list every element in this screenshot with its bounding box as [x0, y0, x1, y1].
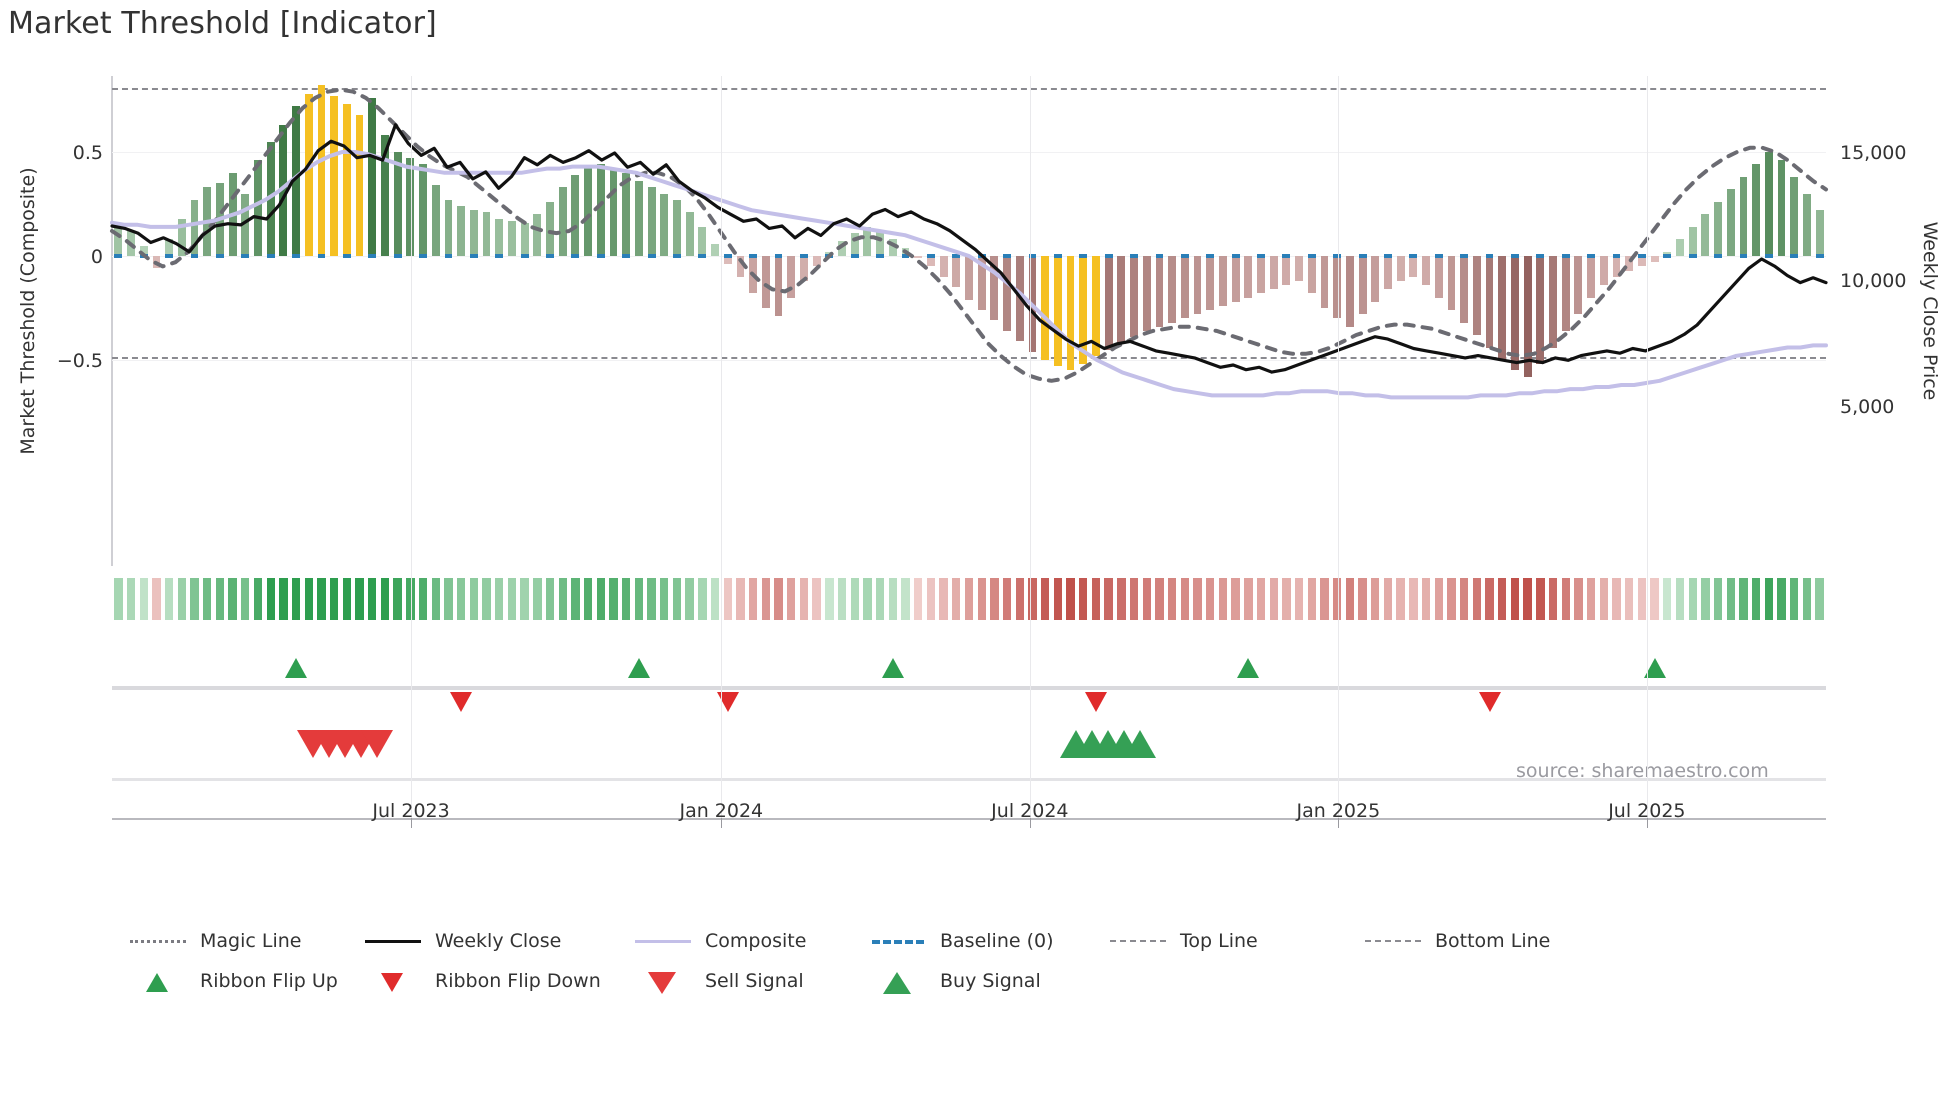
ribbon-cell — [1714, 578, 1722, 620]
legend-item[interactable]: Sell Signal — [635, 970, 804, 992]
ribbon-cell — [762, 578, 770, 620]
ribbon-cell — [1181, 578, 1189, 620]
ribbon-cell — [1663, 578, 1671, 620]
triangle-down-icon — [381, 973, 403, 992]
ribbon-cell — [216, 578, 224, 620]
ribbon-flip-up-marker[interactable] — [628, 658, 650, 678]
ribbon-cell — [609, 578, 617, 620]
ribbon-cell — [1409, 578, 1417, 620]
ribbon-flip-up-marker[interactable] — [882, 658, 904, 678]
ribbon-flip-down-marker[interactable] — [1479, 692, 1501, 712]
ribbon-cell — [1193, 578, 1201, 620]
ribbon-cell — [1244, 578, 1252, 620]
legend-item[interactable]: Weekly Close — [365, 930, 561, 952]
ribbon-cell — [685, 578, 693, 620]
ribbon-cell — [482, 578, 490, 620]
y-tick-right-2: 5,000 — [1840, 396, 1960, 418]
ribbon-cell — [140, 578, 148, 620]
weekly-close-line — [112, 125, 1826, 372]
ribbon-cell — [1282, 578, 1290, 620]
x-tick-label: Jul 2025 — [1547, 800, 1747, 822]
ribbon-cell — [559, 578, 567, 620]
ribbon-cell — [381, 578, 389, 620]
ribbon-cell — [724, 578, 732, 620]
ribbon-cell — [914, 578, 922, 620]
ribbon-cell — [343, 578, 351, 620]
legend-swatch — [1365, 932, 1421, 950]
ribbon-cell — [1574, 578, 1582, 620]
page-title: Market Threshold [Indicator] — [8, 6, 437, 41]
ribbon-cell — [520, 578, 528, 620]
ribbon-cell — [267, 578, 275, 620]
ribbon-cell — [393, 578, 401, 620]
ribbon-cell — [1447, 578, 1455, 620]
x-tick-label: Jul 2023 — [311, 800, 511, 822]
ribbon-cell — [1689, 578, 1697, 620]
legend-label: Top Line — [1180, 930, 1258, 952]
ribbon-cell — [1676, 578, 1684, 620]
ribbon-cell — [838, 578, 846, 620]
ribbon-cell — [952, 578, 960, 620]
ribbon-cell — [825, 578, 833, 620]
ribbon-cell — [254, 578, 262, 620]
legend-item[interactable]: Composite — [635, 930, 806, 952]
legend-item[interactable]: Top Line — [1110, 930, 1258, 952]
ribbon-cell — [1549, 578, 1557, 620]
ribbon-cell — [990, 578, 998, 620]
signal-markers — [112, 634, 1826, 744]
legend-swatch — [1110, 932, 1166, 950]
ribbon-cell — [698, 578, 706, 620]
ribbon-cell — [1346, 578, 1354, 620]
ribbon-cell — [1104, 578, 1112, 620]
ribbon-cell — [622, 578, 630, 620]
ribbon-cell — [1790, 578, 1798, 620]
legend-item[interactable]: Baseline (0) — [870, 930, 1054, 952]
ribbon-cell — [1511, 578, 1519, 620]
legend-item[interactable]: Buy Signal — [870, 970, 1041, 992]
ribbon-cell — [711, 578, 719, 620]
legend-label: Ribbon Flip Down — [435, 970, 601, 992]
ribbon-cell — [533, 578, 541, 620]
ribbon-cell — [1650, 578, 1658, 620]
ribbon-cell — [978, 578, 986, 620]
ribbon-flip-down-marker[interactable] — [1085, 692, 1107, 712]
ribbon-cell — [1130, 578, 1138, 620]
ribbon-cell — [457, 578, 465, 620]
legend-swatch — [130, 972, 186, 990]
ribbon-cell — [863, 578, 871, 620]
ribbon-cell — [1054, 578, 1062, 620]
dashed-line-icon — [1110, 940, 1166, 942]
ribbon-cell — [1473, 578, 1481, 620]
ribbon-cell — [673, 578, 681, 620]
ribbon-cell — [1739, 578, 1747, 620]
legend-label: Weekly Close — [435, 930, 561, 952]
ribbon-cell — [190, 578, 198, 620]
legend-swatch — [635, 932, 691, 950]
legend-row-1: Magic LineWeekly CloseCompositeBaseline … — [110, 930, 1910, 970]
legend-label: Composite — [705, 930, 806, 952]
ribbon-cell — [1155, 578, 1163, 620]
ribbon-cell — [1003, 578, 1011, 620]
ribbon-cell — [876, 578, 884, 620]
ribbon-cell — [292, 578, 300, 620]
ribbon-cell — [1485, 578, 1493, 620]
ribbon-cell — [1435, 578, 1443, 620]
x-tick-label: Jan 2024 — [621, 800, 821, 822]
legend-label: Baseline (0) — [940, 930, 1054, 952]
y-tick-left-1: 0 — [0, 246, 103, 268]
legend-label: Buy Signal — [940, 970, 1041, 992]
ribbon-flip-up-marker[interactable] — [285, 658, 307, 678]
magic-line — [112, 90, 1826, 381]
ribbon-cell — [127, 578, 135, 620]
ribbon-cell — [901, 578, 909, 620]
ribbon-cell — [1752, 578, 1760, 620]
ribbon-cell — [1206, 578, 1214, 620]
legend-item[interactable]: Magic Line — [130, 930, 301, 952]
ribbon-cell — [660, 578, 668, 620]
ribbon-cell — [774, 578, 782, 620]
ribbon-cell — [368, 578, 376, 620]
ribbon-cell — [1498, 578, 1506, 620]
dashed-line-icon — [1365, 940, 1421, 942]
ribbon-cell — [1612, 578, 1620, 620]
ribbon-cell — [165, 578, 173, 620]
ribbon-cell — [1231, 578, 1239, 620]
ribbon-flip-down-marker[interactable] — [717, 692, 739, 712]
chart-root: Market Threshold [Indicator] Market Thre… — [0, 0, 1960, 1102]
ribbon-cell — [178, 578, 186, 620]
ribbon-cell — [800, 578, 808, 620]
ribbon-cell — [584, 578, 592, 620]
ribbon-cell — [1358, 578, 1366, 620]
ribbon-cell — [1536, 578, 1544, 620]
ribbon-cell — [152, 578, 160, 620]
ribbon-flip-up-marker[interactable] — [1237, 658, 1259, 678]
ribbon-cell — [1079, 578, 1087, 620]
ribbon-cell — [1422, 578, 1430, 620]
source-note: source: sharemaestro.com — [1516, 760, 1769, 782]
ribbon-cell — [1016, 578, 1024, 620]
ribbon-cell — [1143, 578, 1151, 620]
legend-swatch — [870, 932, 926, 950]
buy-signal-marker[interactable] — [1124, 730, 1156, 758]
ribbon-cell — [470, 578, 478, 620]
y-tick-right-1: 10,000 — [1840, 270, 1960, 292]
ribbon-cell — [419, 578, 427, 620]
ribbon-strip — [112, 578, 1826, 620]
solid-line-icon — [635, 940, 691, 943]
legend-label: Magic Line — [200, 930, 301, 952]
ribbon-cell — [635, 578, 643, 620]
legend-row-2: Ribbon Flip UpRibbon Flip DownSell Signa… — [110, 970, 1910, 1010]
ribbon-cell — [1219, 578, 1227, 620]
ribbon-cell — [1777, 578, 1785, 620]
ribbon-cell — [1092, 578, 1100, 620]
ribbon-cell — [114, 578, 122, 620]
triangle-down-icon — [648, 972, 676, 994]
legend-swatch — [870, 972, 926, 990]
line-overlays — [112, 76, 1826, 444]
ribbon-cell — [1041, 578, 1049, 620]
ribbon-cell — [1460, 578, 1468, 620]
ribbon-cell — [965, 578, 973, 620]
ribbon-cell — [1600, 578, 1608, 620]
ribbon-cell — [495, 578, 503, 620]
sell-signal-marker[interactable] — [361, 730, 393, 758]
ribbon-cell — [1270, 578, 1278, 620]
ribbon-cell — [597, 578, 605, 620]
y-tick-right-0: 15,000 — [1840, 142, 1960, 164]
ribbon-cell — [1765, 578, 1773, 620]
ribbon-cell — [305, 578, 313, 620]
ribbon-cell — [444, 578, 452, 620]
x-tick-label: Jul 2024 — [930, 800, 1130, 822]
ribbon-cell — [279, 578, 287, 620]
ribbon-cell — [1371, 578, 1379, 620]
dotted-line-icon — [130, 940, 186, 943]
legend-label: Bottom Line — [1435, 930, 1550, 952]
ribbon-cell — [317, 578, 325, 620]
ribbon-cell — [228, 578, 236, 620]
ribbon-cell — [1523, 578, 1531, 620]
ribbon-cell — [330, 578, 338, 620]
legend-item[interactable]: Ribbon Flip Up — [130, 970, 338, 992]
ribbon-cell — [1625, 578, 1633, 620]
ribbon-cell — [355, 578, 363, 620]
ribbon-cell — [1117, 578, 1125, 620]
ribbon-cell — [812, 578, 820, 620]
x-gridline — [1030, 76, 1031, 818]
ribbon-cell — [736, 578, 744, 620]
y-tick-left-2: −0.5 — [0, 350, 103, 372]
ribbon-cell — [1638, 578, 1646, 620]
x-gridline — [1647, 76, 1648, 818]
x-gridline — [1338, 76, 1339, 818]
ribbon-cell — [1562, 578, 1570, 620]
ribbon-cell — [203, 578, 211, 620]
legend-swatch — [365, 932, 421, 950]
legend-item[interactable]: Bottom Line — [1365, 930, 1550, 952]
ribbon-cell — [1257, 578, 1265, 620]
legend-swatch — [635, 972, 691, 990]
flip-axis-line — [112, 686, 1826, 690]
x-tick-label: Jan 2025 — [1238, 800, 1438, 822]
triangle-up-icon — [146, 973, 168, 992]
dashed-line-icon — [872, 940, 924, 944]
legend-swatch — [365, 972, 421, 990]
ribbon-cell — [1727, 578, 1735, 620]
solid-line-icon — [365, 940, 421, 943]
ribbon-cell — [1384, 578, 1392, 620]
ribbon-cell — [749, 578, 757, 620]
ribbon-cell — [1701, 578, 1709, 620]
ribbon-cell — [1587, 578, 1595, 620]
y-tick-left-0: 0.5 — [0, 142, 103, 164]
ribbon-cell — [1168, 578, 1176, 620]
ribbon-cell — [1308, 578, 1316, 620]
ribbon-cell — [571, 578, 579, 620]
ribbon-cell — [508, 578, 516, 620]
chart-legend: Magic LineWeekly CloseCompositeBaseline … — [110, 930, 1910, 1010]
legend-label: Ribbon Flip Up — [200, 970, 338, 992]
ribbon-cell — [787, 578, 795, 620]
ribbon-cell — [1803, 578, 1811, 620]
x-gridline — [411, 76, 412, 818]
ribbon-cell — [432, 578, 440, 620]
legend-item[interactable]: Ribbon Flip Down — [365, 970, 601, 992]
ribbon-flip-down-marker[interactable] — [450, 692, 472, 712]
ribbon-cell — [939, 578, 947, 620]
ribbon-cell — [1066, 578, 1074, 620]
ribbon-cell — [1815, 578, 1823, 620]
ribbon-cell — [1295, 578, 1303, 620]
ribbon-cell — [241, 578, 249, 620]
ribbon-cell — [1396, 578, 1404, 620]
ribbon-cell — [647, 578, 655, 620]
ribbon-cell — [851, 578, 859, 620]
legend-label: Sell Signal — [705, 970, 804, 992]
triangle-up-icon — [883, 972, 911, 994]
ribbon-cell — [927, 578, 935, 620]
ribbon-cell — [1333, 578, 1341, 620]
plot-area — [112, 76, 1826, 444]
x-gridline — [721, 76, 722, 818]
ribbon-cell — [889, 578, 897, 620]
legend-swatch — [130, 932, 186, 950]
ribbon-cell — [546, 578, 554, 620]
ribbon-cell — [1320, 578, 1328, 620]
